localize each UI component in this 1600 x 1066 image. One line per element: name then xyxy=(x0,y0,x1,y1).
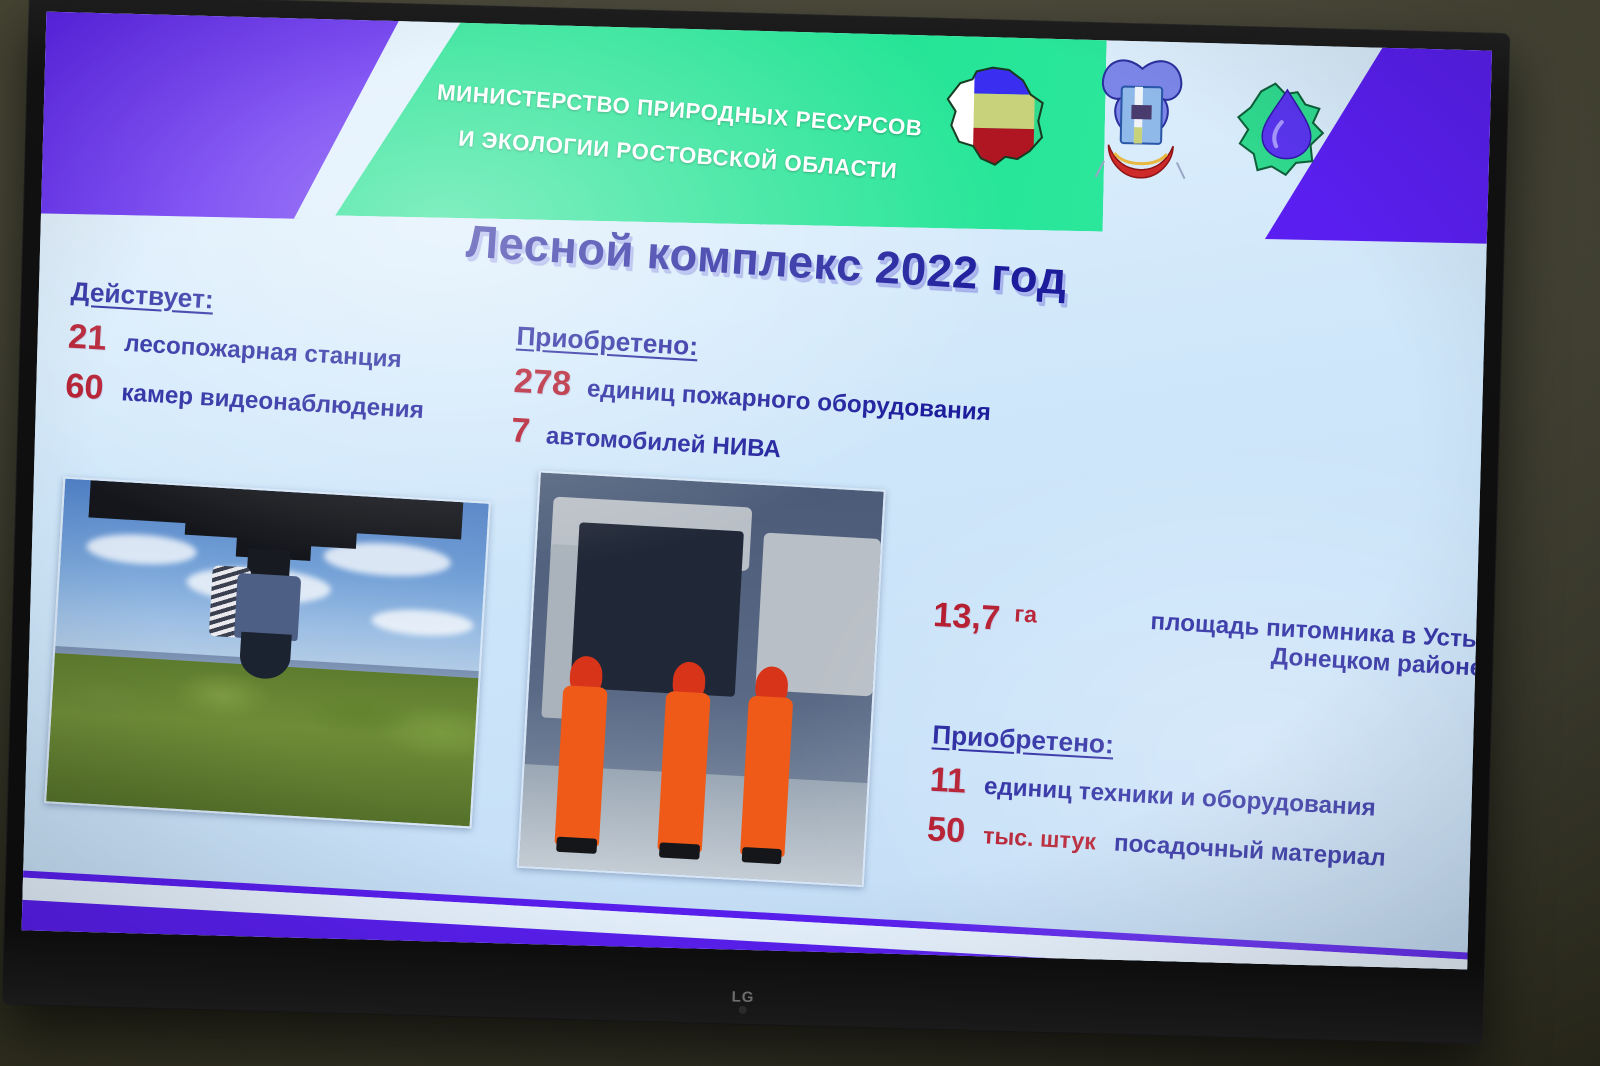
rostov-coat-of-arms-logo xyxy=(1079,47,1203,196)
stat-value: 11 xyxy=(929,760,967,801)
stat-value: 7 xyxy=(510,411,531,451)
presentation-slide: МИНИСТЕРСТВО ПРИРОДНЫХ РЕСУРСОВ И ЭКОЛОГ… xyxy=(22,12,1492,970)
stat-label: площадь питомника в Усть-Донецком районе xyxy=(1049,602,1486,683)
forest-region xyxy=(46,653,478,827)
fire-suit xyxy=(740,696,793,857)
fire-suit xyxy=(555,686,608,847)
stat-label: лесопожарная станция xyxy=(124,330,403,375)
stat-row: 21 лесопожарная станция xyxy=(67,317,428,378)
boots xyxy=(557,837,597,854)
stat-label: автомобилей НИВА xyxy=(545,422,782,464)
crew-member xyxy=(650,661,719,853)
crew-member xyxy=(733,665,802,857)
television-display: МИНИСТЕРСТВО ПРИРОДНЫХ РЕСУРСОВ И ЭКОЛОГ… xyxy=(3,0,1510,1044)
stat-value: 60 xyxy=(64,367,104,409)
photo-video-surveillance-camera xyxy=(44,476,491,828)
stat-unit: тыс. штук xyxy=(982,822,1096,856)
stat-row: 13,7 га площадь питомника в Усть-Донецко… xyxy=(931,596,1492,686)
block-active-assets: Действует: 21 лесопожарная станция 60 ка… xyxy=(64,276,430,427)
stat-label: посадочный материал xyxy=(1113,829,1386,872)
ir-receiver-dot xyxy=(739,1006,747,1014)
stat-unit: га xyxy=(1014,600,1038,628)
block-purchased-equipment: Приобретено: 11 единиц техники и оборудо… xyxy=(926,719,1392,875)
tv-screen: МИНИСТЕРСТВО ПРИРОДНЫХ РЕСУРСОВ И ЭКОЛОГ… xyxy=(22,12,1492,970)
stat-label: камер видеонаблюдения xyxy=(121,379,425,425)
tv-bezel: МИНИСТЕРСТВО ПРИРОДНЫХ РЕСУРСОВ И ЭКОЛОГ… xyxy=(3,0,1510,1044)
block-nursery-area: 13,7 га площадь питомника в Усть-Донецко… xyxy=(931,586,1492,686)
fire-suit xyxy=(657,691,710,852)
block-purchased-fire-equipment: Приобретено: 278 единиц пожарного оборуд… xyxy=(510,320,995,478)
boots xyxy=(659,842,699,859)
header-purple-left-shape xyxy=(32,12,400,221)
slide-header: МИНИСТЕРСТВО ПРИРОДНЫХ РЕСУРСОВ И ЭКОЛОГ… xyxy=(32,12,1492,244)
photo-fire-crew xyxy=(517,470,886,887)
stat-row: 60 камер видеонаблюдения xyxy=(64,367,425,428)
eco-leaf-drop-logo xyxy=(1225,73,1347,197)
brand-logo: LG xyxy=(731,989,754,1007)
stat-value: 50 xyxy=(926,810,966,851)
boots xyxy=(742,847,782,864)
stat-label: единиц техники и оборудования xyxy=(983,773,1376,823)
rostov-region-map-logo xyxy=(928,52,1062,186)
stat-value: 278 xyxy=(513,362,573,405)
stat-value: 21 xyxy=(67,317,107,359)
crew-member xyxy=(548,655,617,847)
stat-value: 13,7 xyxy=(932,596,1001,639)
